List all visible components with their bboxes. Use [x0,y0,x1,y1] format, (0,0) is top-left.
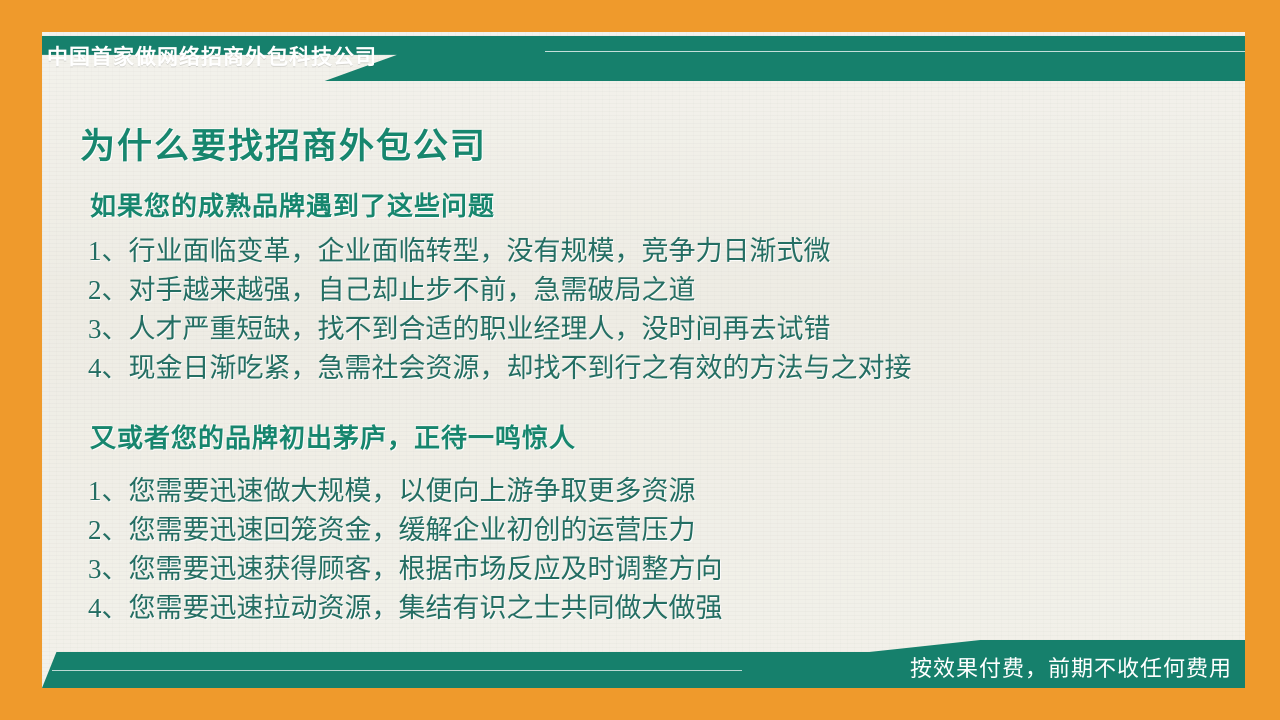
header-tagline: 中国首家做网络招商外包科技公司 [47,41,377,71]
footer-hairline-divider [52,670,742,671]
section-heading-mature-brand: 如果您的成熟品牌遇到了这些问题 [90,186,495,223]
list-item: 3、您需要迅速获得顾客，根据市场反应及时调整方向 [88,550,723,589]
list-item: 3、人才严重短缺，找不到合适的职业经理人，没时间再去试错 [88,310,912,349]
page-title: 为什么要找招商外包公司 [80,118,487,169]
list-item: 4、您需要迅速拉动资源，集结有识之士共同做大做强 [88,589,723,628]
slide-canvas: 中国首家做网络招商外包科技公司 为什么要找招商外包公司 如果您的成熟品牌遇到了这… [0,0,1280,720]
section-heading-new-brand: 又或者您的品牌初出茅庐，正待一鸣惊人 [90,418,576,455]
footer-tagline: 按效果付费，前期不收任何费用 [910,652,1232,688]
list-item: 1、您需要迅速做大规模，以便向上游争取更多资源 [88,472,723,511]
bullet-list-mature-brand: 1、行业面临变革，企业面临转型，没有规模，竞争力日渐式微 2、对手越来越强，自己… [88,232,912,388]
list-item: 2、对手越来越强，自己却止步不前，急需破局之道 [88,271,912,310]
header-hairline-divider [545,51,1245,52]
bullet-list-new-brand: 1、您需要迅速做大规模，以便向上游争取更多资源 2、您需要迅速回笼资金，缓解企业… [88,472,723,628]
list-item: 1、行业面临变革，企业面临转型，没有规模，竞争力日渐式微 [88,232,912,271]
list-item: 2、您需要迅速回笼资金，缓解企业初创的运营压力 [88,511,723,550]
list-item: 4、现金日渐吃紧，急需社会资源，却找不到行之有效的方法与之对接 [88,349,912,388]
